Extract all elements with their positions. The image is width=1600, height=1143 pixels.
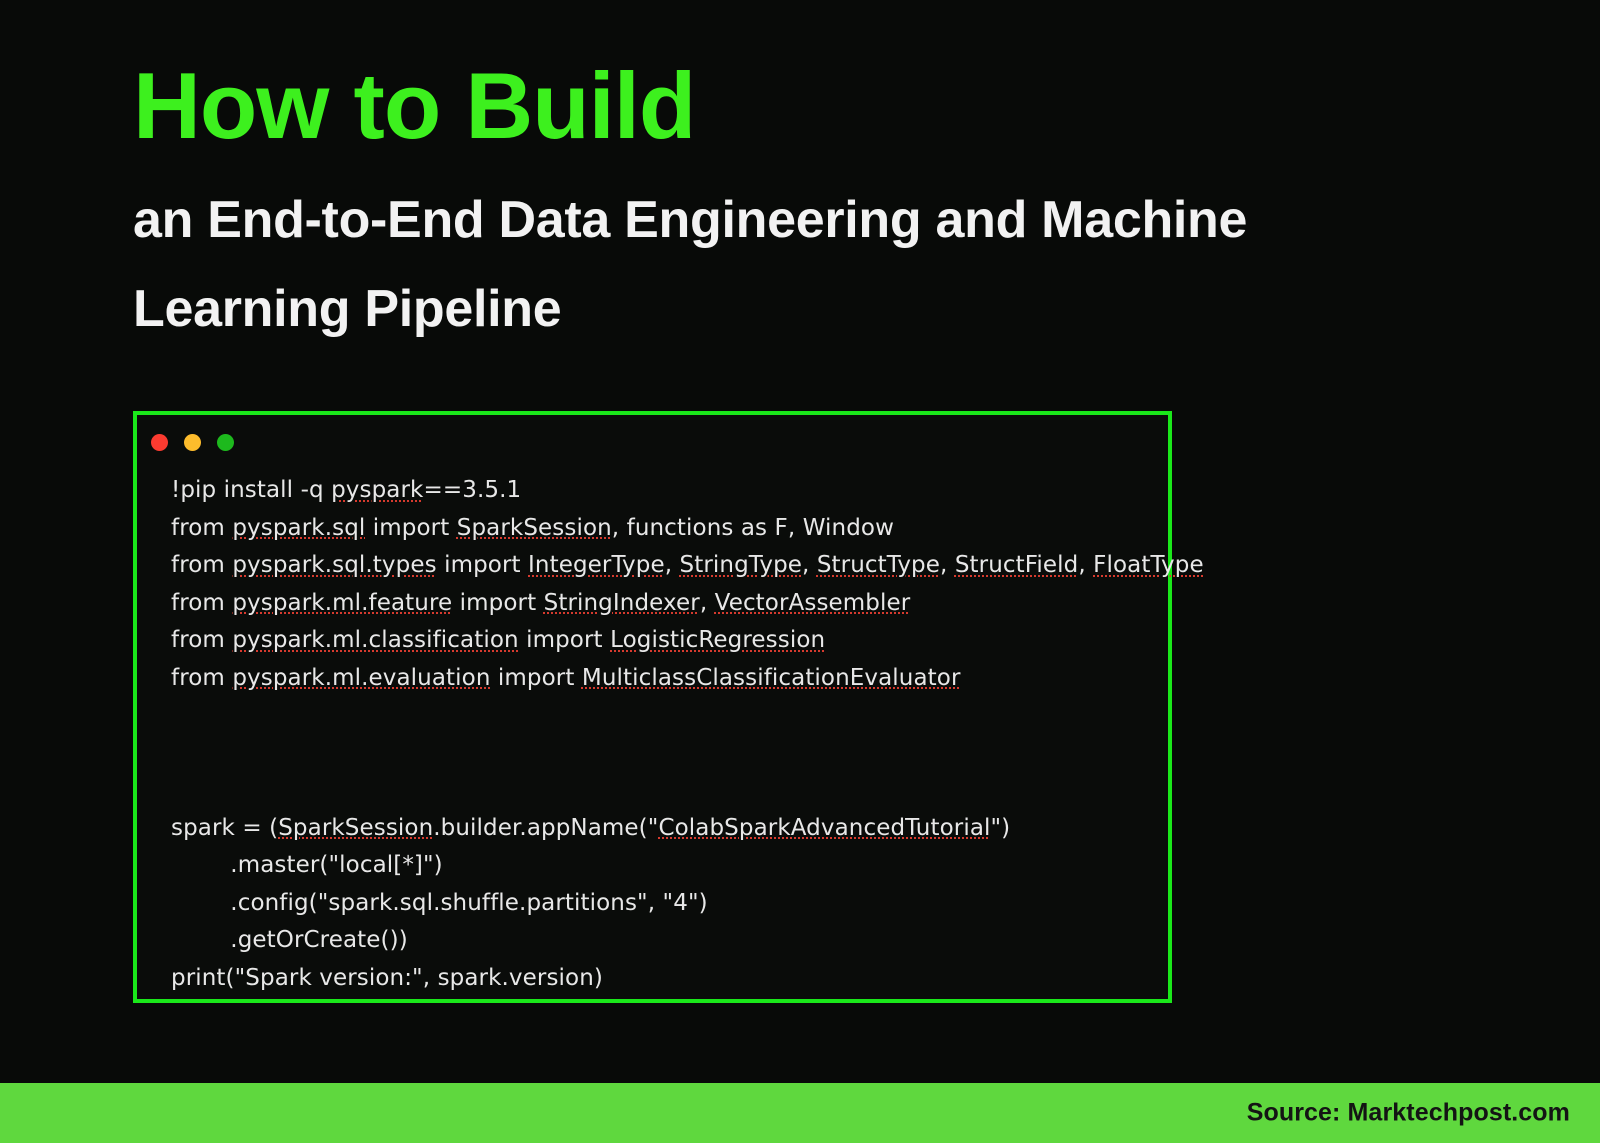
code-window: !pip install -q pyspark==3.5.1from pyspa… [133, 411, 1172, 1003]
code-line: from pyspark.ml.feature import StringInd… [171, 585, 1160, 623]
headline-subtitle: an End-to-End Data Engineering and Machi… [133, 176, 1553, 355]
headline-main: How to Build [133, 56, 1553, 156]
headline-subtitle-line-2: Learning Pipeline [133, 265, 1553, 354]
code-line [171, 697, 1160, 735]
code-line: print("Spark version:", spark.version) [171, 960, 1160, 998]
page-title: How to Build an End-to-End Data Engineer… [133, 56, 1553, 355]
code-line: spark = (SparkSession.builder.appName("C… [171, 810, 1160, 848]
headline-subtitle-line-1: an End-to-End Data Engineering and Machi… [133, 176, 1553, 265]
code-line: .getOrCreate()) [171, 922, 1160, 960]
code-line: from pyspark.sql.types import IntegerTyp… [171, 547, 1160, 585]
code-line: .config("spark.sql.shuffle.partitions", … [171, 885, 1160, 923]
code-block: !pip install -q pyspark==3.5.1from pyspa… [171, 472, 1160, 991]
code-line: from pyspark.ml.classification import Lo… [171, 622, 1160, 660]
code-line: .master("local[*]") [171, 847, 1160, 885]
source-attribution: Source: Marktechpost.com [1247, 1099, 1570, 1128]
footer-bar: Source: Marktechpost.com [0, 1083, 1600, 1143]
close-dot-icon[interactable] [151, 434, 168, 451]
code-line [171, 772, 1160, 810]
maximize-dot-icon[interactable] [217, 434, 234, 451]
code-line: from pyspark.sql import SparkSession, fu… [171, 510, 1160, 548]
window-controls [151, 434, 234, 451]
code-line: !pip install -q pyspark==3.5.1 [171, 472, 1160, 510]
code-line: from pyspark.ml.evaluation import Multic… [171, 660, 1160, 698]
slide-canvas: How to Build an End-to-End Data Engineer… [0, 0, 1600, 1143]
code-line [171, 735, 1160, 773]
minimize-dot-icon[interactable] [184, 434, 201, 451]
